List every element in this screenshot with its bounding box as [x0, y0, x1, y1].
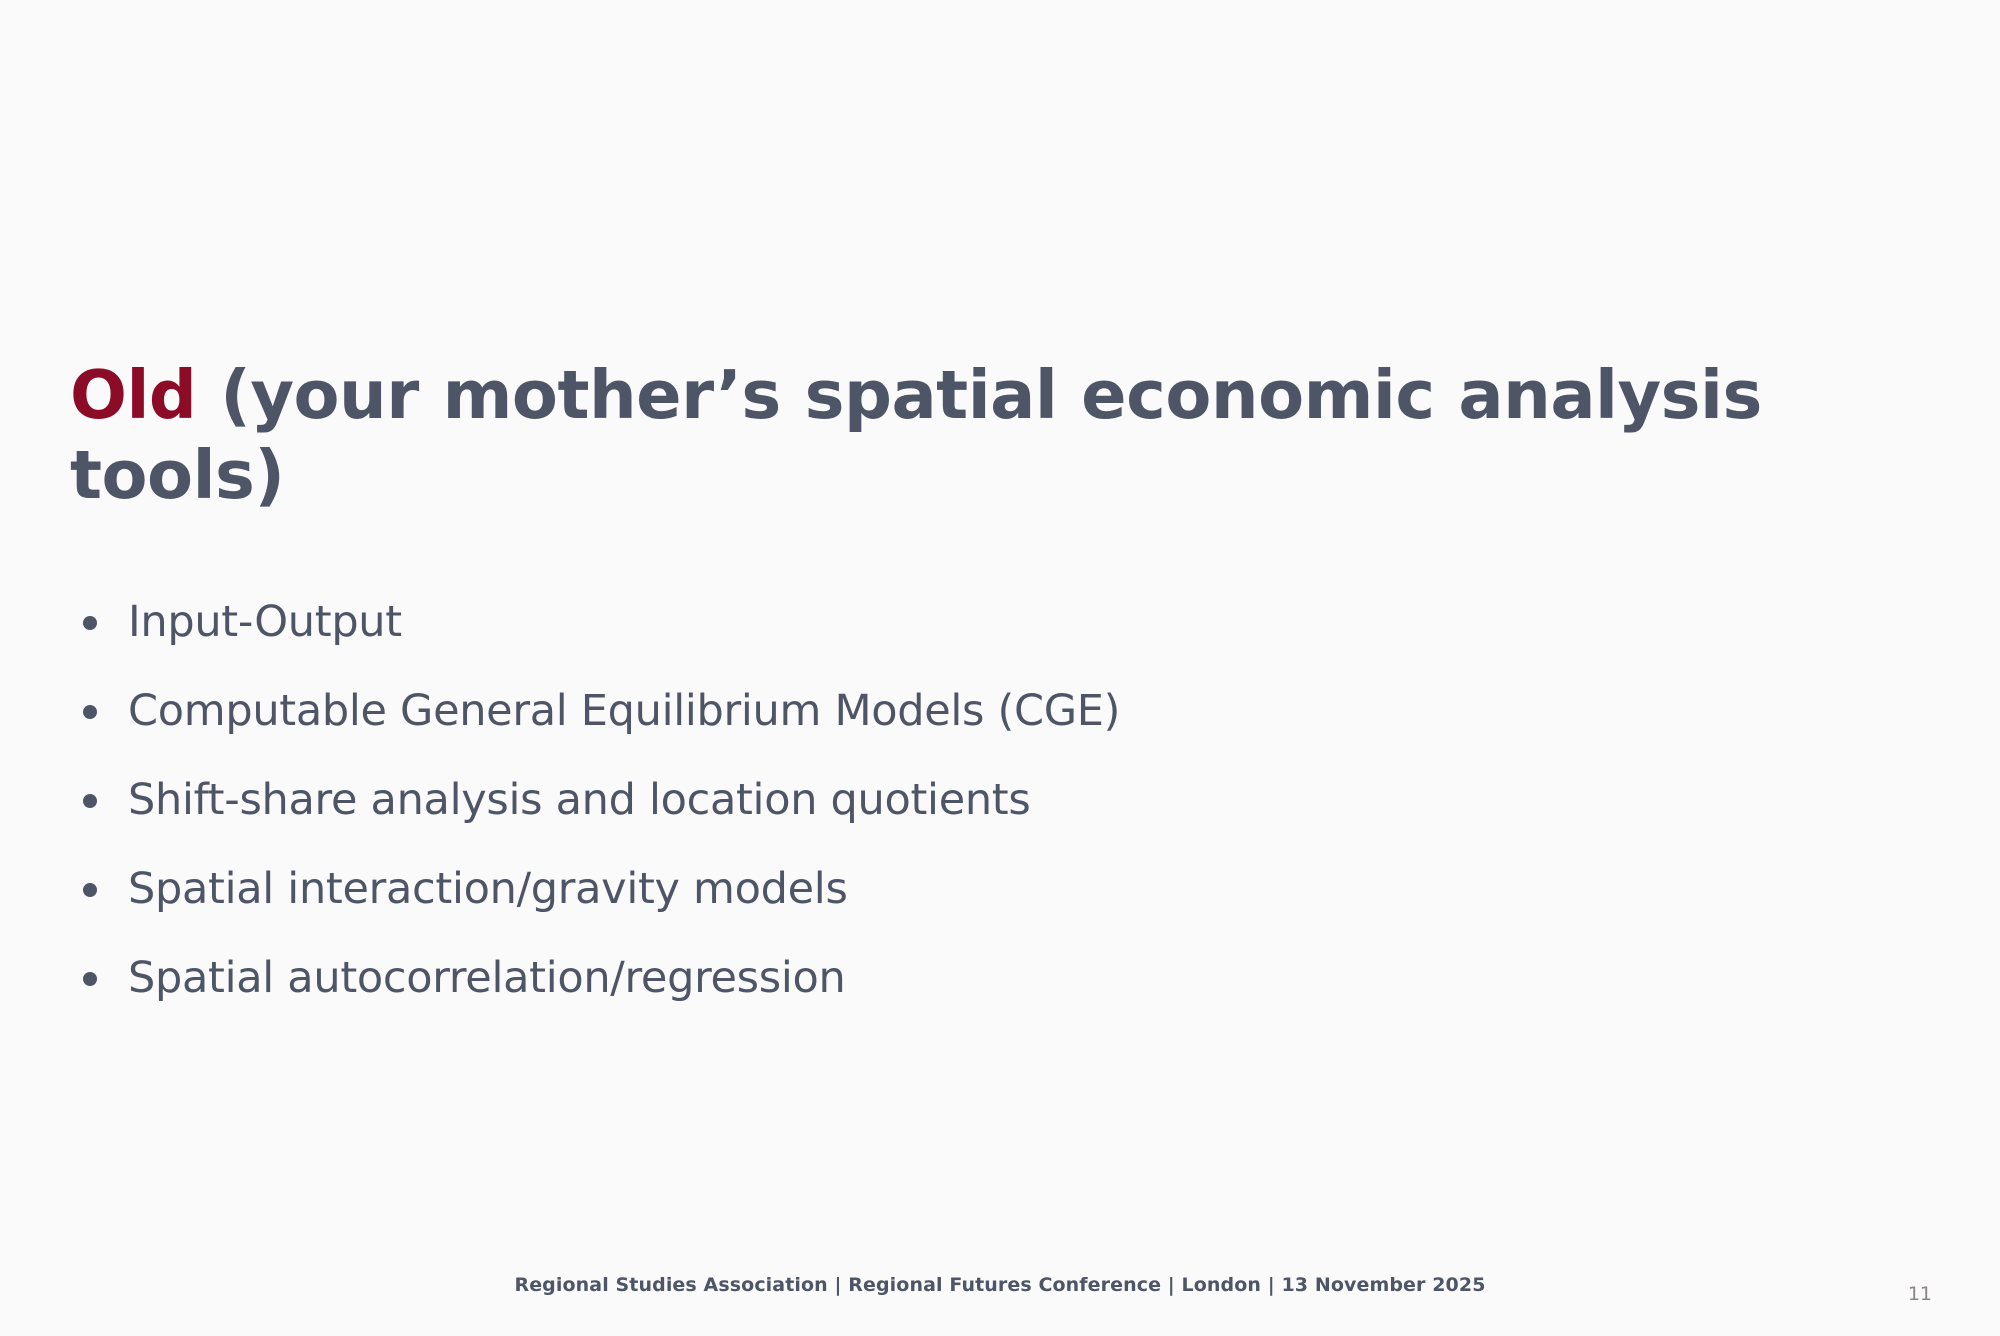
list-item-label: Spatial autocorrelation/regression	[128, 953, 845, 1003]
footer-note: Regional Studies Association | Regional …	[0, 1274, 2000, 1296]
list-item: Spatial autocorrelation/regression	[70, 934, 1870, 1023]
list-item-label: Shift-share analysis and location quotie…	[128, 775, 1030, 825]
list-item: Input-Output	[70, 578, 1870, 667]
list-item: Spatial interaction/gravity models	[70, 845, 1870, 934]
list-item-label: Input-Output	[128, 597, 402, 647]
bullet-list: Input-Output Computable General Equilibr…	[70, 578, 1870, 1023]
list-item: Computable General Equilibrium Models (C…	[70, 667, 1870, 756]
list-item-label: Spatial interaction/gravity models	[128, 864, 848, 914]
list-item: Shift-share analysis and location quotie…	[70, 756, 1870, 845]
page-title: Old (your mother’s spatial economic anal…	[70, 355, 1830, 515]
list-item-label: Computable General Equilibrium Models (C…	[128, 686, 1120, 736]
title-block: Old (your mother’s spatial economic anal…	[70, 355, 1830, 515]
slide-number: 11	[1908, 1283, 1932, 1305]
title-remainder: (your mother’s spatial economic analysis…	[70, 356, 1762, 514]
slide-canvas: Old (your mother’s spatial economic anal…	[0, 0, 2000, 1336]
title-accent-word: Old	[70, 356, 196, 434]
